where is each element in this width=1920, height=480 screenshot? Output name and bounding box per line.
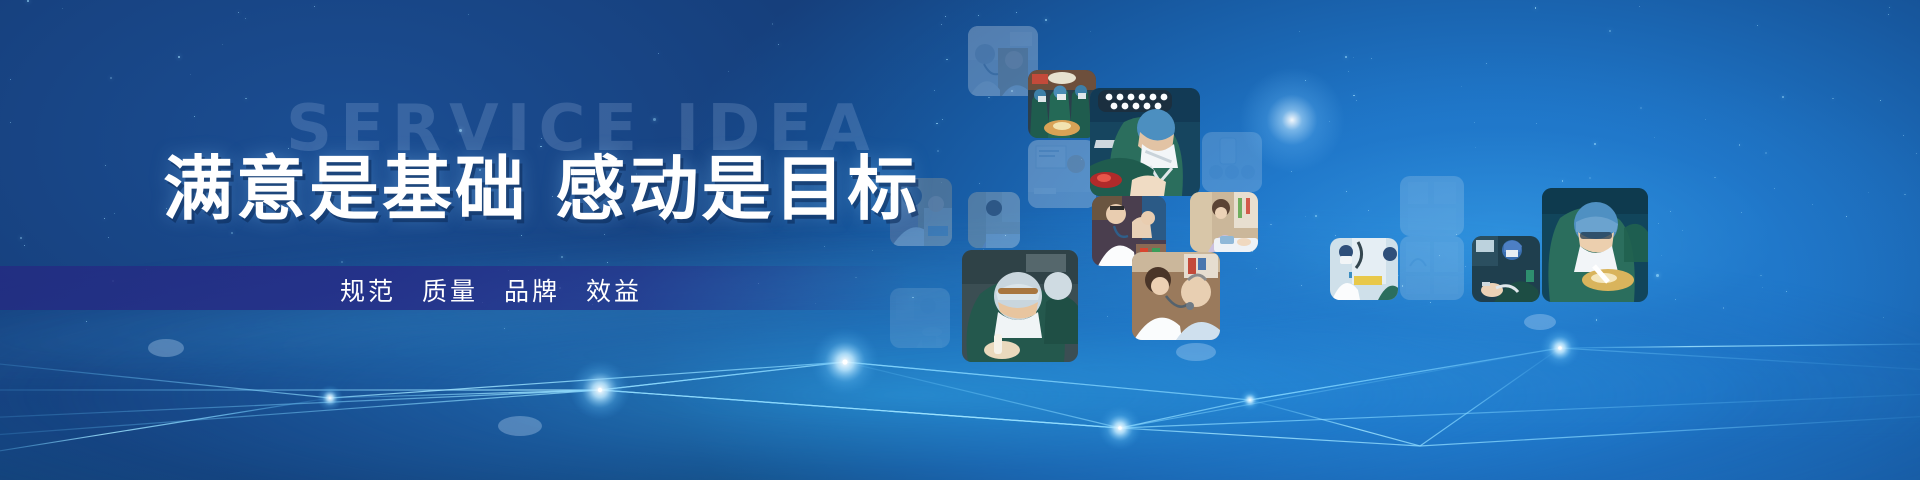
collage-photo-xray-panel-upper <box>1400 176 1464 236</box>
subtitle-keyword-2: 质量 <box>422 277 478 306</box>
collage-photo-doctor-at-desk-office <box>1028 140 1096 208</box>
collage-photo-nurse-caring-infant-bedside <box>1190 192 1258 252</box>
subtitle-keyword-1: 规范 <box>340 277 396 306</box>
collage-photo-surgeon-writing-operating-room <box>1542 188 1648 302</box>
collage-photo-medical-records-xray-panel <box>1400 236 1464 300</box>
collage-photo-endoscopy-procedure-room <box>1330 238 1398 300</box>
subtitle-keywords: 规范质量品牌效益 <box>340 272 642 308</box>
collage-photo-anesthesiologist-with-patient <box>1472 236 1540 302</box>
collage-photo-surgery-team-operating <box>1028 70 1096 138</box>
collage-photo-nicu-incubator-ward <box>1202 132 1262 192</box>
collage-photo-nurse-stethoscope-senior-patient <box>1132 252 1220 340</box>
collage-photo-surgeon-closeup-operating-lamp <box>1090 88 1200 196</box>
collage-photo-hospital-room-faded <box>968 192 1020 248</box>
hero-banner: SERVICE IDEA 满意是基础 感动是目标 规范质量品牌效益 <box>0 0 1920 480</box>
photo-collage <box>0 0 1920 480</box>
page-title: 满意是基础 感动是目标 <box>163 133 920 234</box>
subtitle-keyword-4: 效益 <box>586 277 642 306</box>
collage-photo-surgeon-masked-green-gown <box>962 250 1078 362</box>
subtitle-keyword-3: 品牌 <box>504 277 560 306</box>
